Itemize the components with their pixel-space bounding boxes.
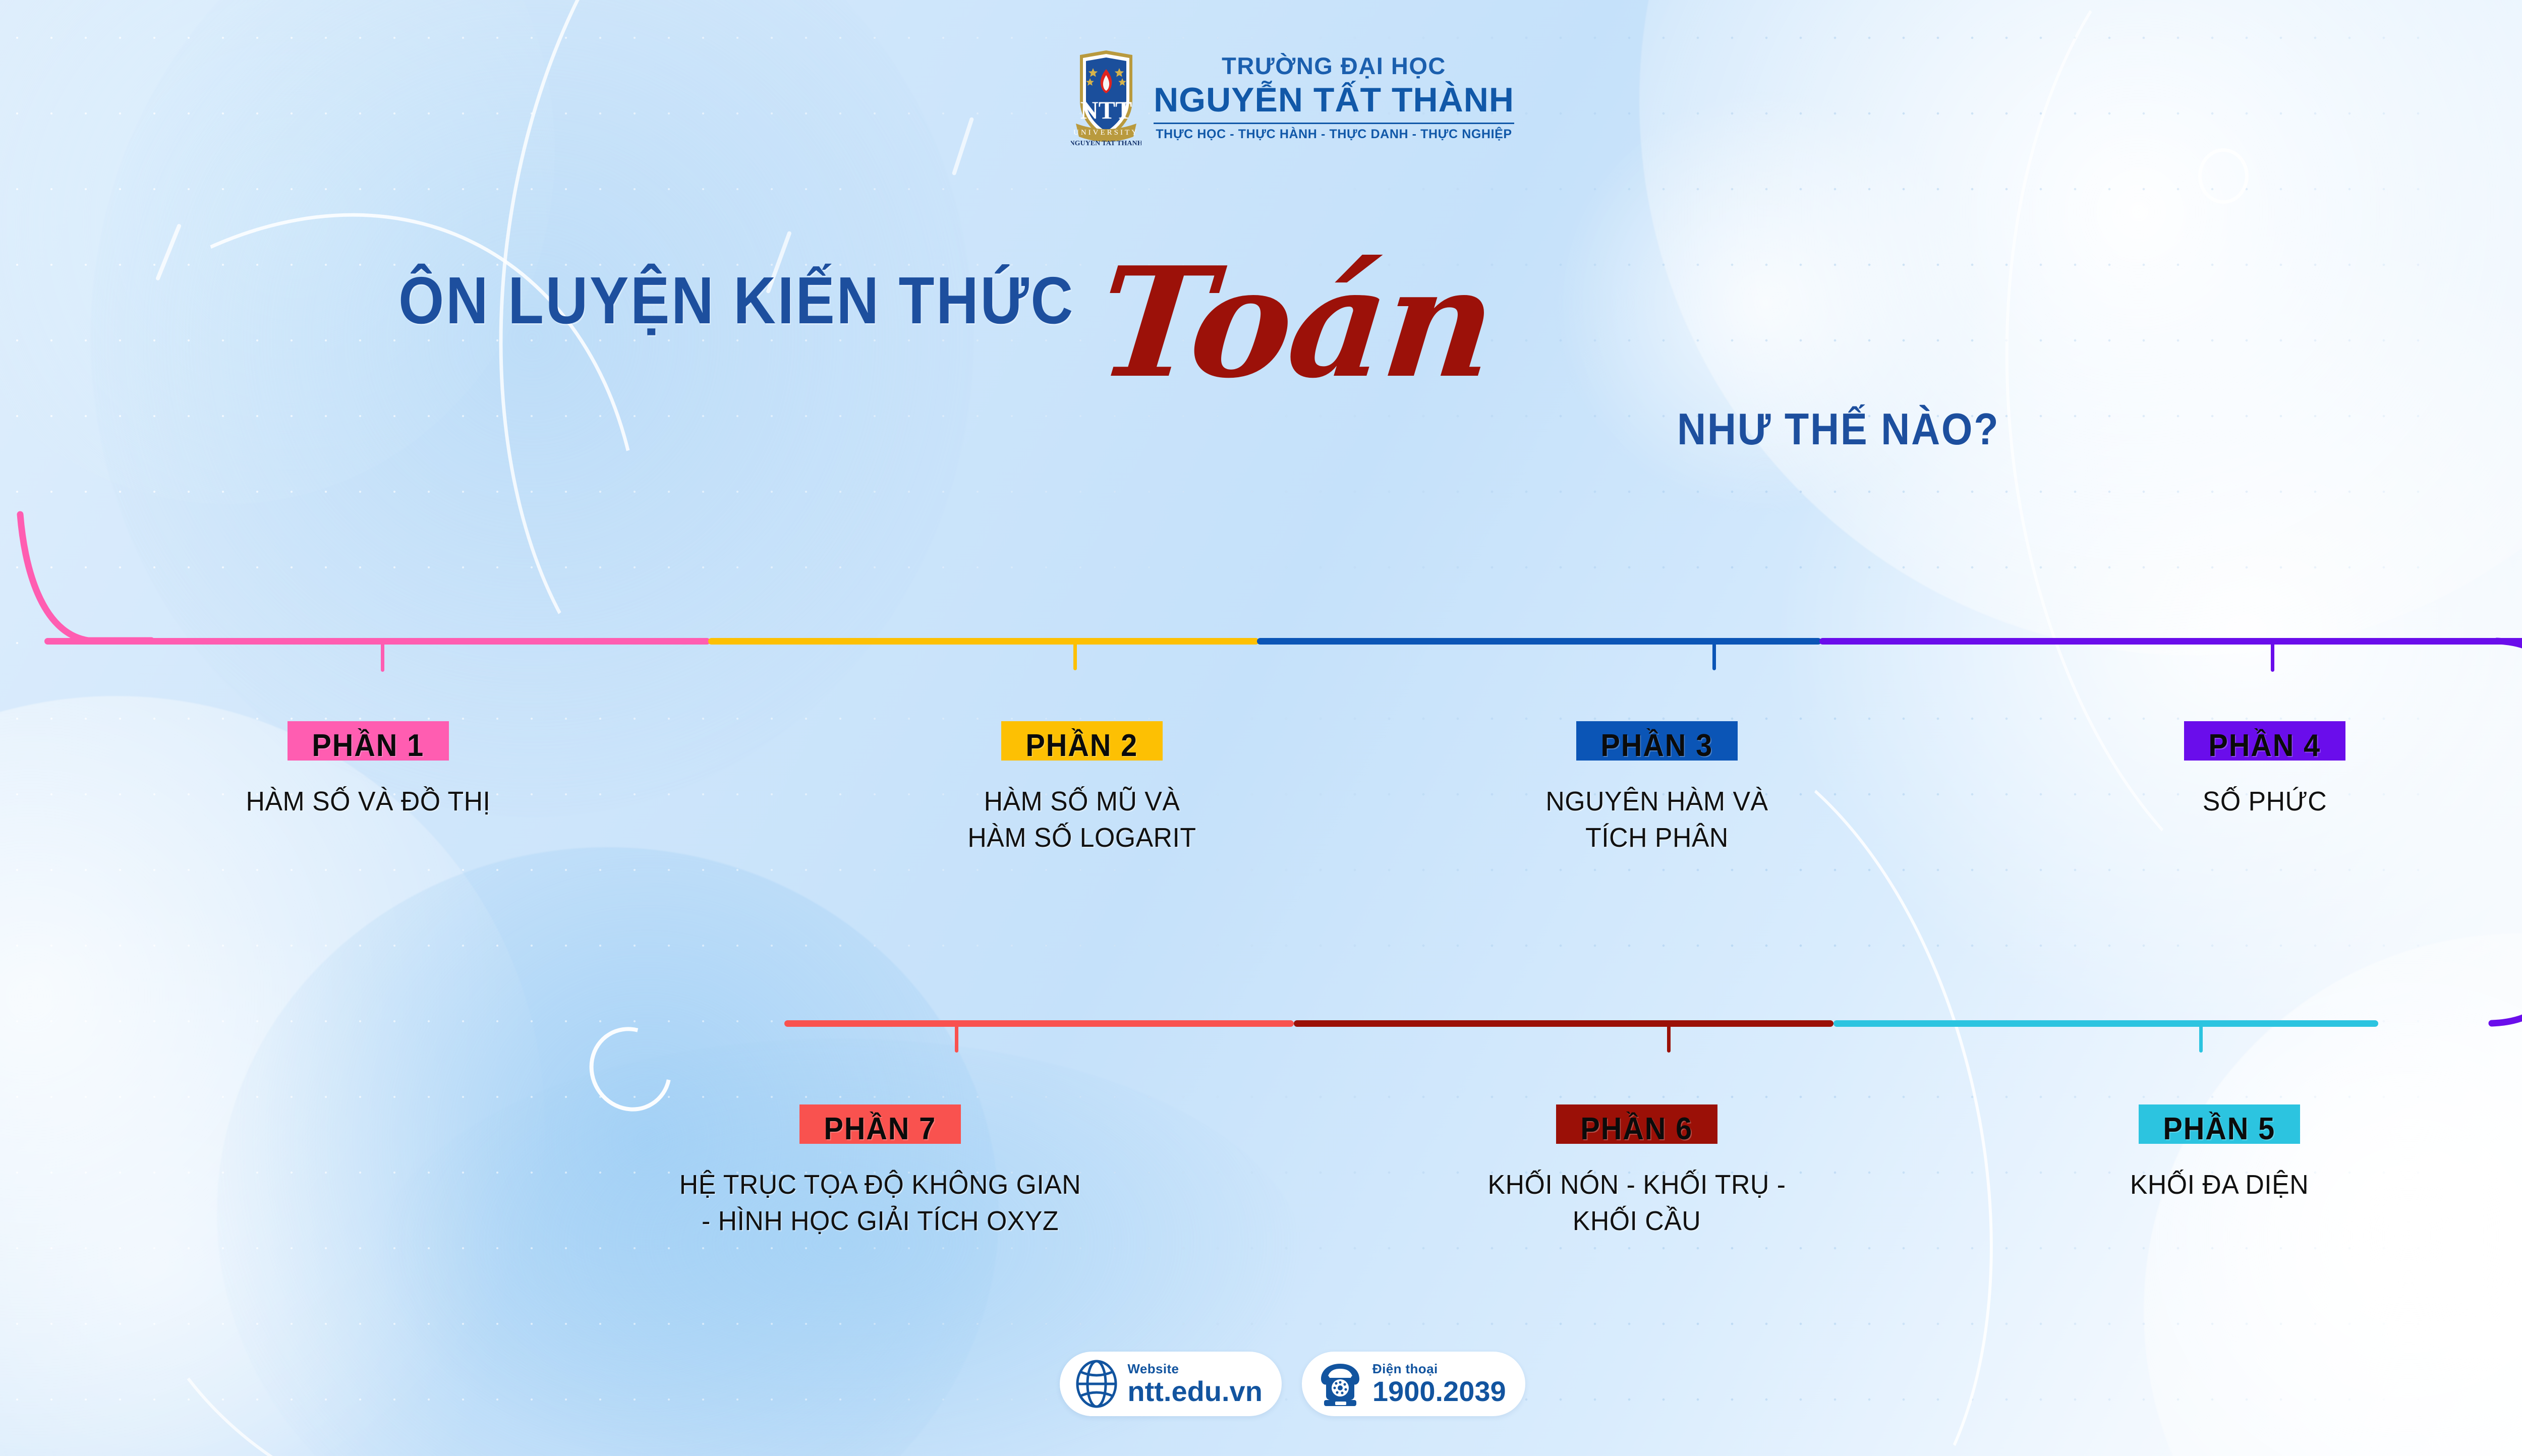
part-description: KHỐI NÓN - KHỐI TRỤ -KHỐI CẦU: [1428, 1167, 1845, 1240]
part-description: SỐ PHỨC: [2071, 784, 2458, 820]
university-line2: NGUYỄN TẤT THÀNH: [1154, 83, 1514, 117]
part-description: NGUYÊN HÀM VÀTÍCH PHÂN: [1463, 784, 1851, 856]
page-title: ÔN LUYỆN KIẾN THỨC Toán NHƯ THẾ NÀO?: [0, 252, 2522, 469]
telephone-icon: [1317, 1360, 1363, 1408]
part-badge-label: PHẦN 6: [1581, 1114, 1693, 1145]
part-badge: PHẦN 6: [1556, 1104, 1717, 1153]
part-badge-label: PHẦN 2: [1026, 730, 1138, 762]
part-badge: PHẦN 7: [799, 1104, 960, 1153]
svg-text:UNIVERSITY: UNIVERSITY: [1073, 129, 1139, 137]
ntt-crest-icon: NTT UNIVERSITY NGUYEN TAT THANH: [1071, 48, 1141, 146]
part-badge-label: PHẦN 7: [824, 1114, 937, 1145]
university-tagline: THỰC HỌC - THỰC HÀNH - THỰC DANH - THỰC …: [1156, 128, 1512, 141]
university-divider: [1154, 123, 1514, 124]
title-tail: NHƯ THẾ NÀO?: [1677, 403, 1999, 455]
bg-ring-right: [2198, 148, 2249, 204]
svg-text:NGUYEN TAT THANH: NGUYEN TAT THANH: [1071, 140, 1141, 146]
part-badge-label: PHẦN 3: [1601, 730, 1713, 762]
university-name-block: TRƯỜNG ĐẠI HỌC NGUYỄN TẤT THÀNH THỰC HỌC…: [1154, 54, 1514, 141]
phone-value: 1900.2039: [1372, 1377, 1506, 1406]
part-card-6[interactable]: PHẦN 6KHỐI NÓN - KHỐI TRỤ -KHỐI CẦU: [1420, 1104, 1854, 1240]
part-card-7[interactable]: PHẦN 7HỆ TRỤC TỌA ĐỘ KHÔNG GIAN- HÌNH HỌ…: [628, 1104, 1132, 1240]
title-script: Toán: [1092, 247, 1500, 398]
part-badge: PHẦN 2: [1001, 721, 1162, 770]
part-card-1[interactable]: PHẦN 1HÀM SỐ VÀ ĐỒ THỊ: [166, 721, 570, 820]
part-badge: PHẦN 4: [2184, 721, 2345, 770]
part-card-3[interactable]: PHẦN 3NGUYÊN HÀM VÀTÍCH PHÂN: [1455, 721, 1859, 856]
website-value: ntt.edu.vn: [1127, 1377, 1263, 1406]
part-badge-label: PHẦN 4: [2209, 730, 2321, 762]
part-card-5[interactable]: PHẦN 5KHỐI ĐA DIỆN: [2018, 1104, 2421, 1203]
university-line1: TRƯỜNG ĐẠI HỌC: [1222, 54, 1446, 78]
part-description: KHỐI ĐA DIỆN: [2026, 1167, 2413, 1203]
university-logo-header: NTT UNIVERSITY NGUYEN TAT THANH TRƯỜNG Đ…: [0, 48, 2522, 146]
part-badge: PHẦN 3: [1576, 721, 1737, 770]
part-description: HỆ TRỤC TỌA ĐỘ KHÔNG GIAN- HÌNH HỌC GIẢI…: [638, 1167, 1122, 1240]
svg-text:NTT: NTT: [1080, 96, 1132, 124]
website-pill[interactable]: Website ntt.edu.vn: [1060, 1352, 1282, 1416]
contact-footer: Website ntt.edu.vn Điện thoại: [0, 1352, 2522, 1416]
phone-caption: Điện thoại: [1372, 1362, 1506, 1375]
part-badge-label: PHẦN 1: [312, 730, 425, 762]
part-description: HÀM SỐ VÀ ĐỒ THỊ: [175, 784, 562, 820]
website-caption: Website: [1127, 1362, 1263, 1375]
part-badge: PHẦN 5: [2139, 1104, 2300, 1153]
part-badge: PHẦN 1: [288, 721, 448, 770]
globe-icon: [1075, 1360, 1118, 1408]
part-description: HÀM SỐ MŨ VÀHÀM SỐ LOGARIT: [888, 784, 1276, 856]
part-card-2[interactable]: PHẦN 2HÀM SỐ MŨ VÀHÀM SỐ LOGARIT: [880, 721, 1284, 856]
part-badge-label: PHẦN 5: [2163, 1114, 2276, 1145]
title-main: ÔN LUYỆN KIẾN THỨC: [398, 262, 1075, 338]
phone-pill[interactable]: Điện thoại 1900.2039: [1302, 1352, 1525, 1416]
part-card-4[interactable]: PHẦN 4SỐ PHỨC: [2063, 721, 2467, 820]
